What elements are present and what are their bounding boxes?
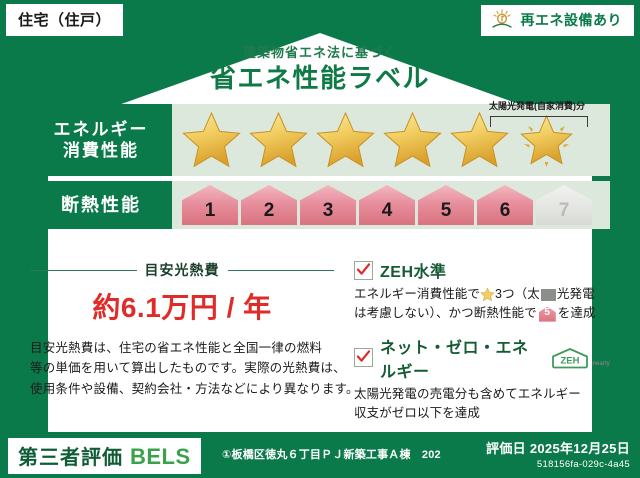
zeh-desc-text-e: を達成 xyxy=(558,304,596,323)
net-zero-title: ネット・ゼロ・エネルギー xyxy=(380,334,538,382)
evaluation-info: 評価日 2025年12月25日 518156fa-029c-4a45 xyxy=(486,438,630,470)
zeh-standard-title: ZEH水準 xyxy=(380,258,447,282)
bels-jp-label: 第三者評価 xyxy=(18,441,123,470)
zeh-desc-text-c: 光発電 xyxy=(557,285,595,304)
insulation-performance-tag: 断熱性能 xyxy=(30,181,172,229)
zeh-logo-icon: ZEH nearly xyxy=(550,347,610,369)
bels-en-label: BELS xyxy=(130,444,191,470)
insulation-performance-body: 1 2 3 4 5 6 7 xyxy=(172,181,610,229)
insulation-level-badge-inactive: 7 xyxy=(536,185,592,225)
utility-cost-note: 目安光熱費は、住宅の省エネ性能と全国一律の燃料 等の単価を用いて算出したものです… xyxy=(30,338,334,399)
utility-cost-value: 約6.1万円 / 年 xyxy=(30,286,334,326)
insulation-level-badge: 4 xyxy=(359,185,415,225)
utility-cost-block: 目安光熱費 約6.1万円 / 年 目安光熱費は、住宅の省エネ性能と全国一律の燃料… xyxy=(30,258,340,416)
solar-bracket xyxy=(490,116,588,127)
note-line-1: 目安光熱費は、住宅の省エネ性能と全国一律の燃料 xyxy=(30,338,334,358)
net-zero-description: 太陽光発電の売電分も含めてエネルギー 収支がゼロ以下を達成 xyxy=(354,385,610,424)
utility-cost-heading: 目安光熱費 xyxy=(30,260,334,280)
property-address: ①板橋区徳丸６丁目ＰＪ新築工事Ａ棟 202 xyxy=(222,446,441,462)
energy-label-card: 住宅（住戸） 再エネ設備あり 建築物省エネ法に基づく 省エネ性能ラベル xyxy=(0,0,640,478)
zeh-standard-description: エネルギー消費性能で 3つ（太 光発電 は考慮しない）、かつ断熱性能で 5 xyxy=(354,285,610,324)
rule-left xyxy=(30,270,137,271)
details-section: 目安光熱費 約6.1万円 / 年 目安光熱費は、住宅の省エネ性能と全国一律の燃料… xyxy=(30,258,610,416)
building-type-chip: 住宅（住戸） xyxy=(6,4,123,36)
inline-star-icon xyxy=(480,287,495,302)
zeh-block: ZEH水準 エネルギー消費性能で 3つ（太 光発電 は考慮しない）、かつ断熱性能… xyxy=(340,258,610,416)
insulation-level-badge: 6 xyxy=(477,185,533,225)
zeh-desc-text-b: 3つ（太 xyxy=(495,285,540,304)
net-zero-desc-line-1: 太陽光発電の売電分も含めてエネルギー xyxy=(354,385,610,404)
evaluation-date: 評価日 2025年12月25日 xyxy=(486,438,630,457)
utility-cost-label: 目安光熱費 xyxy=(145,260,220,280)
inline-insulation-badge: 5 xyxy=(539,307,556,322)
footer-bar: 第三者評価 BELS ①板橋区徳丸６丁目ＰＪ新築工事Ａ棟 202 評価日 202… xyxy=(0,432,640,478)
zeh-desc-text-a: エネルギー消費性能で xyxy=(354,285,480,304)
star-icon xyxy=(314,110,377,170)
insulation-performance-row: 断熱性能 1 2 3 4 5 6 7 xyxy=(30,181,610,229)
bels-certification-chip: 第三者評価 BELS xyxy=(8,438,201,474)
sun-icon xyxy=(489,9,515,31)
zeh-logo-subtext: nearly xyxy=(592,361,610,369)
energy-performance-tag: エネルギー 消費性能 xyxy=(30,104,172,176)
label-title: 省エネ性能ラベル xyxy=(0,58,640,95)
zeh-standard-item: ZEH水準 エネルギー消費性能で 3つ（太 光発電 は考慮しない）、かつ断熱性能… xyxy=(354,258,610,324)
checkbox-checked-icon xyxy=(354,261,373,280)
zeh-standard-header: ZEH水準 xyxy=(354,258,610,282)
redacted-mark xyxy=(541,289,556,301)
star-icon xyxy=(180,110,243,170)
energy-performance-body: 太陽光発電(自家消費)分 xyxy=(172,104,610,176)
performance-section: エネルギー 消費性能 xyxy=(30,104,610,229)
rule-right xyxy=(228,270,335,271)
energy-tag-line1: エネルギー xyxy=(54,119,149,140)
note-line-3: 使用条件や設備、契約会社・方法などにより異なります。 xyxy=(30,379,334,399)
certificate-id: 518156fa-029c-4a45 xyxy=(486,459,630,470)
insulation-scale: 1 2 3 4 5 6 7 xyxy=(172,185,592,225)
net-zero-header: ネット・ゼロ・エネルギー ZEH nearly xyxy=(354,334,610,382)
energy-performance-row: エネルギー 消費性能 xyxy=(30,104,610,176)
energy-tag-line2: 消費性能 xyxy=(63,140,139,161)
insulation-level-badge: 5 xyxy=(418,185,474,225)
insulation-level-badge: 3 xyxy=(300,185,356,225)
star-icon xyxy=(381,110,444,170)
checkbox-checked-icon xyxy=(354,348,373,367)
note-line-2: 等の単価を用いて算出したものです。実際の光熱費は、 xyxy=(30,358,334,378)
solar-annotation: 太陽光発電(自家消費)分 xyxy=(472,102,602,111)
star-icon xyxy=(247,110,310,170)
insulation-level-badge: 2 xyxy=(241,185,297,225)
zeh-desc-line-2: は考慮しない）、かつ断熱性能で 5 を達成 xyxy=(354,304,610,323)
zeh-desc-line-1: エネルギー消費性能で 3つ（太 光発電 xyxy=(354,285,610,304)
renewable-badge-label: 再エネ設備あり xyxy=(521,10,623,30)
zeh-desc-text-d: は考慮しない）、かつ断熱性能で xyxy=(354,304,537,323)
svg-text:ZEH: ZEH xyxy=(561,355,580,366)
insulation-level-badge: 1 xyxy=(182,185,238,225)
renewable-energy-badge: 再エネ設備あり xyxy=(481,5,635,36)
net-zero-energy-item: ネット・ゼロ・エネルギー ZEH nearly 太陽光発電の売電分も含めてエネル… xyxy=(354,334,610,424)
net-zero-desc-line-2: 収支がゼロ以下を達成 xyxy=(354,404,610,423)
